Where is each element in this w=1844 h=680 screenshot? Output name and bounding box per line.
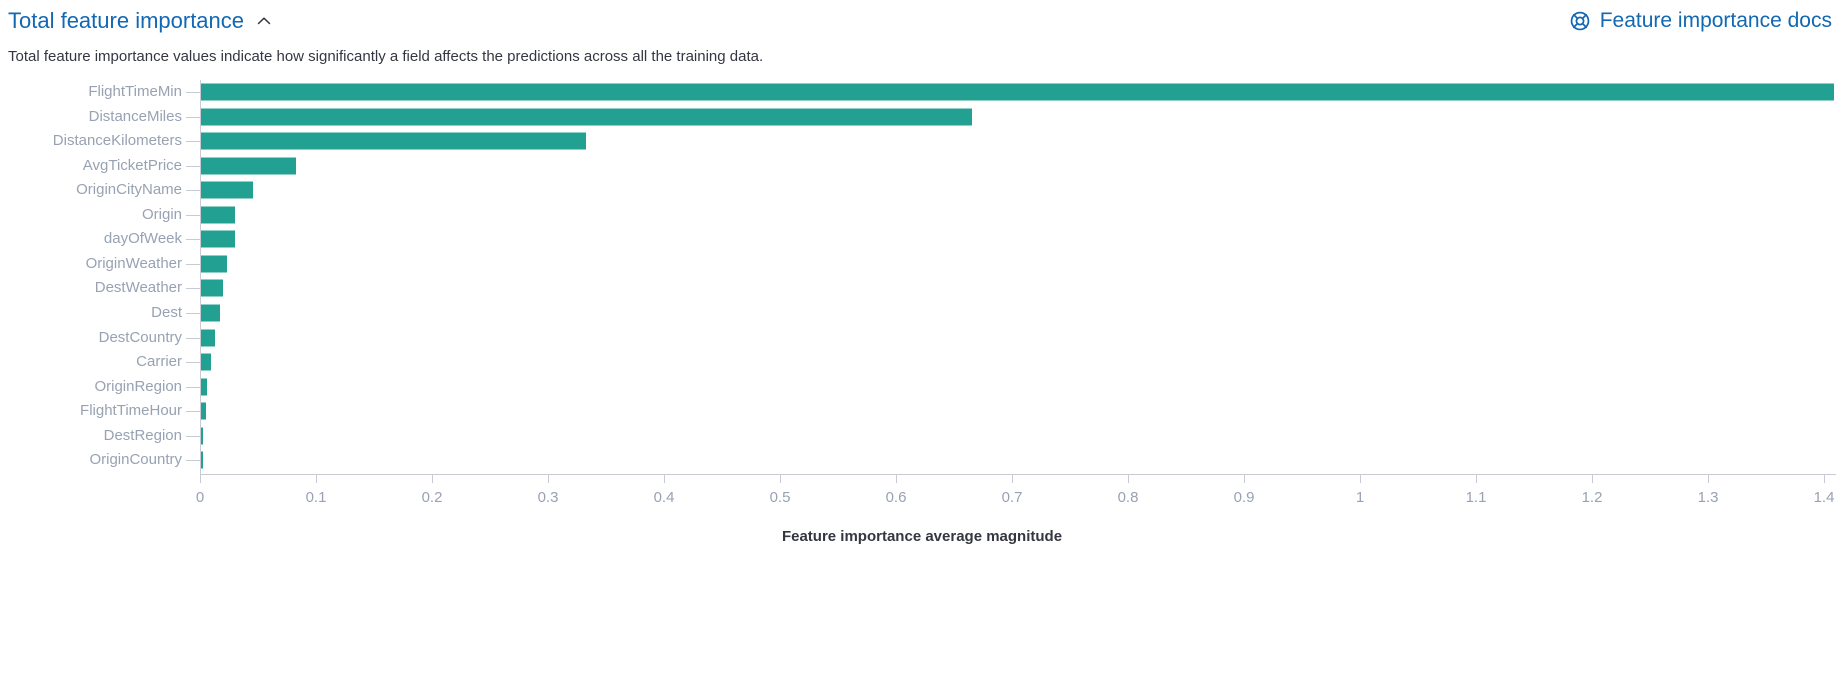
y-axis-label: dayOfWeek — [104, 230, 182, 248]
x-axis-tick — [200, 474, 201, 483]
y-axis-label: DistanceKilometers — [53, 132, 182, 150]
x-axis-tick — [1824, 474, 1825, 483]
y-axis-tick — [186, 436, 200, 437]
x-axis-tick — [896, 474, 897, 483]
bar[interactable] — [201, 182, 253, 199]
bar[interactable] — [201, 354, 211, 371]
x-axis-tick — [316, 474, 317, 483]
x-axis-tick-label: 0.8 — [1118, 488, 1139, 508]
x-axis-tick-label: 1.3 — [1698, 488, 1719, 508]
x-axis-tick — [1012, 474, 1013, 483]
x-axis-tick-label: 1 — [1356, 488, 1364, 508]
x-axis-tick — [432, 474, 433, 483]
x-axis-tick-label: 0.9 — [1234, 488, 1255, 508]
y-axis-label: DestWeather — [95, 279, 182, 297]
feature-importance-chart: FlightTimeMinDistanceMilesDistanceKilome… — [0, 80, 1844, 640]
x-axis-tick-label: 1.4 — [1814, 488, 1835, 508]
y-axis-tick — [186, 460, 200, 461]
y-axis-label: FlightTimeHour — [80, 402, 182, 420]
y-axis-label: Dest — [151, 304, 182, 322]
y-axis-tick — [186, 141, 200, 142]
panel-title-group[interactable]: Total feature importance — [8, 6, 274, 36]
y-axis-tick — [186, 264, 200, 265]
page-title: Total feature importance — [8, 6, 244, 36]
y-axis-tick — [186, 338, 200, 339]
y-axis-tick — [186, 411, 200, 412]
bar[interactable] — [201, 206, 235, 223]
bar[interactable] — [201, 427, 203, 444]
bar[interactable] — [201, 280, 223, 297]
bar[interactable] — [201, 157, 296, 174]
bar[interactable] — [201, 255, 227, 272]
x-axis-tick — [1476, 474, 1477, 483]
y-axis-tick — [186, 117, 200, 118]
bar[interactable] — [201, 403, 206, 420]
x-axis-tick — [664, 474, 665, 483]
y-axis-tick — [186, 387, 200, 388]
x-axis-line — [200, 474, 1836, 475]
y-axis-label: Carrier — [136, 353, 182, 371]
x-axis-tick — [1708, 474, 1709, 483]
bar[interactable] — [201, 84, 1834, 101]
bar[interactable] — [201, 329, 215, 346]
x-axis-tick-label: 0.5 — [770, 488, 791, 508]
x-axis-tick-label: 1.2 — [1582, 488, 1603, 508]
feature-importance-docs-link[interactable]: Feature importance docs — [1569, 6, 1836, 36]
y-axis-tick — [186, 166, 200, 167]
x-axis-tick-label: 0.1 — [306, 488, 327, 508]
bar[interactable] — [201, 452, 203, 469]
x-axis-tick — [1128, 474, 1129, 483]
x-axis-tick — [780, 474, 781, 483]
y-axis-label: DistanceMiles — [89, 108, 182, 126]
y-axis-tick — [186, 288, 200, 289]
y-axis-tick — [186, 92, 200, 93]
x-axis-tick — [548, 474, 549, 483]
x-axis-tick-label: 0.6 — [886, 488, 907, 508]
y-axis-label: OriginCountry — [89, 451, 182, 469]
bar[interactable] — [201, 108, 972, 125]
bar[interactable] — [201, 378, 207, 395]
panel-description: Total feature importance values indicate… — [0, 36, 1844, 68]
x-axis-tick-label: 0.2 — [422, 488, 443, 508]
bar[interactable] — [201, 231, 235, 248]
y-axis-label: Origin — [142, 206, 182, 224]
bar[interactable] — [201, 304, 220, 321]
x-axis-tick-label: 0.7 — [1002, 488, 1023, 508]
y-axis-label: FlightTimeMin — [88, 83, 182, 101]
x-axis-tick — [1360, 474, 1361, 483]
y-axis-label: AvgTicketPrice — [83, 157, 182, 175]
docs-link-label: Feature importance docs — [1600, 6, 1832, 36]
panel-header: Total feature importance Feature importa… — [0, 0, 1844, 36]
y-axis-label: OriginCityName — [76, 181, 182, 199]
x-axis-tick — [1592, 474, 1593, 483]
x-axis-title: Feature importance average magnitude — [0, 528, 1844, 545]
help-lifering-icon — [1569, 10, 1591, 32]
bar[interactable] — [201, 133, 586, 150]
chart-plot-area: FlightTimeMinDistanceMilesDistanceKilome… — [0, 80, 1844, 640]
y-axis-tick — [186, 362, 200, 363]
chevron-up-icon[interactable] — [254, 11, 274, 31]
y-axis-tick — [186, 313, 200, 314]
y-axis-tick — [186, 239, 200, 240]
y-axis-label: DestCountry — [99, 329, 182, 347]
x-axis-tick-label: 1.1 — [1466, 488, 1487, 508]
x-axis-tick-label: 0.4 — [654, 488, 675, 508]
x-axis-tick-label: 0 — [196, 488, 204, 508]
y-axis-label: OriginRegion — [94, 378, 182, 396]
y-axis-tick — [186, 190, 200, 191]
x-axis-tick — [1244, 474, 1245, 483]
y-axis-label: DestRegion — [104, 427, 182, 445]
y-axis-label: OriginWeather — [86, 255, 182, 273]
x-axis-tick-label: 0.3 — [538, 488, 559, 508]
y-axis-tick — [186, 215, 200, 216]
